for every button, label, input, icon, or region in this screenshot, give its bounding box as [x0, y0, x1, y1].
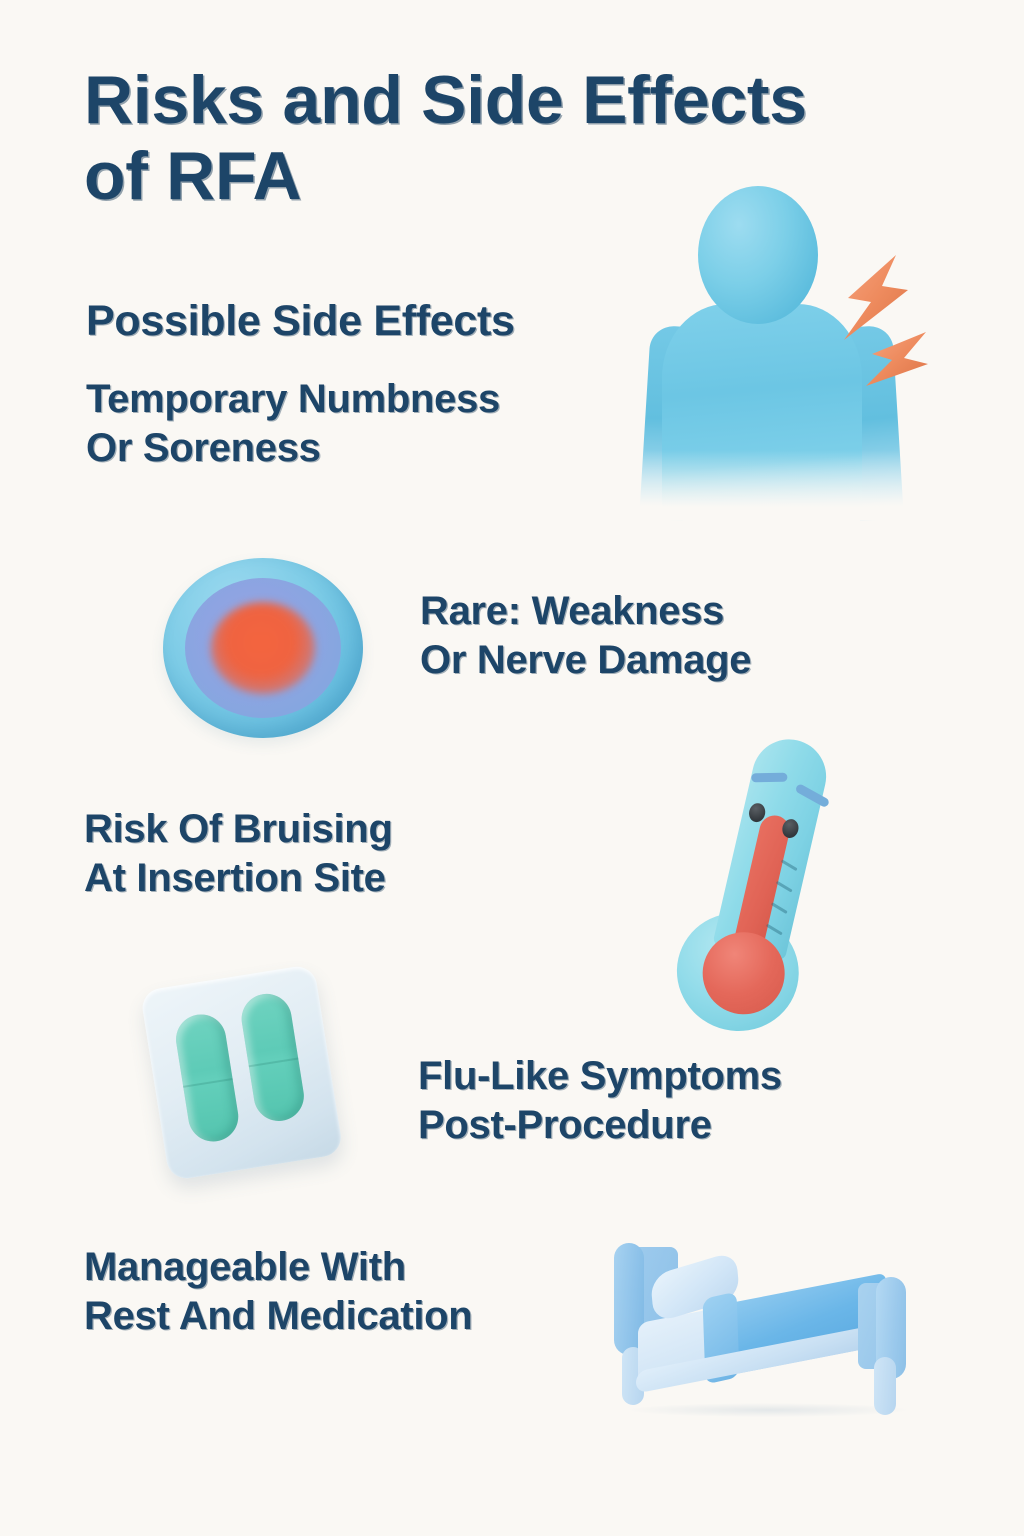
hospital-bed-icon: [608, 1243, 928, 1418]
item-numbness-text: Temporary Numbness Or Soreness: [86, 375, 686, 473]
item-flu-like-text: Flu-Like Symptoms Post-Procedure: [418, 1052, 958, 1150]
item-nerve-damage-line-1: Rare: Weakness: [420, 587, 940, 636]
item-flu-like-line-2: Post-Procedure: [418, 1101, 958, 1150]
item-flu-like-line-1: Flu-Like Symptoms: [418, 1052, 958, 1101]
item-bruising-text: Risk Of Bruising At Insertion Site: [84, 805, 604, 903]
sick-thermometer-icon: [652, 728, 872, 1033]
item-numbness-line-1: Temporary Numbness: [86, 375, 686, 424]
item-manageable-line-1: Manageable With: [84, 1243, 644, 1292]
item-nerve-damage-text: Rare: Weakness Or Nerve Damage: [420, 587, 940, 685]
item-bruising-line-2: At Insertion Site: [84, 854, 604, 903]
item-numbness-line-2: Or Soreness: [86, 424, 686, 473]
item-nerve-damage-line-2: Or Nerve Damage: [420, 636, 940, 685]
page-title-line-1: Risks and Side Effects: [84, 62, 914, 138]
person-fade-out: [620, 450, 940, 520]
nerve-target-circle-icon: [163, 558, 363, 738]
bed-shadow: [628, 1403, 908, 1417]
item-bruising-line-1: Risk Of Bruising: [84, 805, 604, 854]
person-head: [698, 186, 818, 324]
infographic-poster: Risks and Side Effects of RFA Possible S…: [0, 0, 1024, 1536]
nerve-core: [211, 602, 315, 694]
pill-blister-pack-icon: [140, 968, 350, 1180]
blister-pack-tray: [140, 964, 344, 1181]
subheading-possible-side-effects: Possible Side Effects: [86, 297, 706, 346]
thermometer-left-eyebrow: [751, 773, 787, 783]
item-manageable-text: Manageable With Rest And Medication: [84, 1243, 644, 1341]
item-manageable-line-2: Rest And Medication: [84, 1292, 644, 1341]
person-with-pain-bolts-icon: [620, 180, 940, 520]
bed-leg: [874, 1357, 896, 1415]
